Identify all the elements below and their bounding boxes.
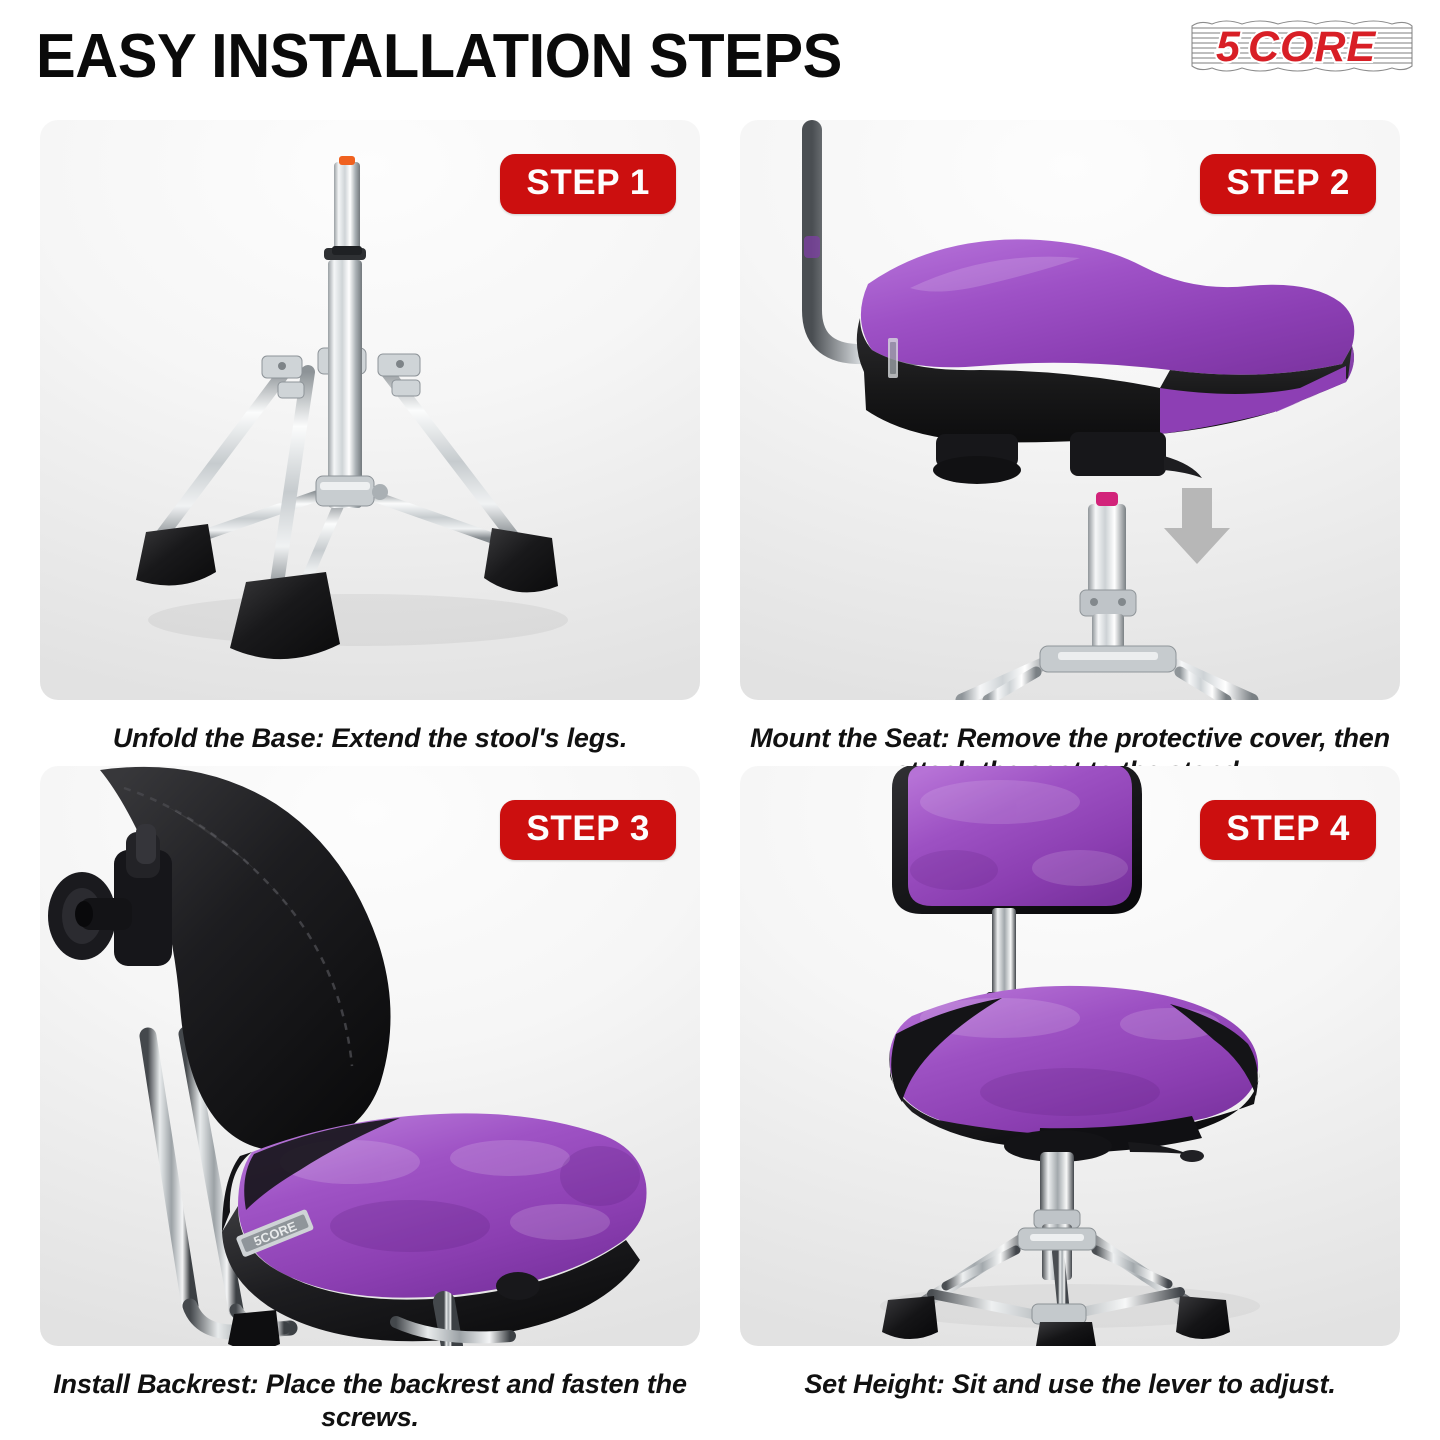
- down-arrow-icon: [1164, 488, 1230, 564]
- step-4-image-panel: STEP 4: [740, 766, 1400, 1346]
- step-2-image-panel: STEP 2: [740, 120, 1400, 700]
- step-2-badge: STEP 2: [1200, 154, 1376, 214]
- step-1-badge: STEP 1: [500, 154, 676, 214]
- step-4-caption: Set Height: Sit and use the lever to adj…: [750, 1368, 1390, 1401]
- page-title: EASY INSTALLATION STEPS: [36, 22, 842, 92]
- step-card-2: STEP 2 Mount the Seat: Remove the protec…: [720, 120, 1420, 788]
- svg-text:5: 5: [1216, 23, 1241, 71]
- step-3-caption: Install Backrest: Place the backrest and…: [50, 1368, 690, 1434]
- step-card-3: 5CORE STEP 3 Install Backrest: Place the…: [20, 766, 720, 1434]
- page-header: EASY INSTALLATION STEPS 5: [0, 0, 1440, 118]
- step-4-badge: STEP 4: [1200, 800, 1376, 860]
- step-1-caption: Unfold the Base: Extend the stool's legs…: [50, 722, 690, 755]
- step-1-image-panel: STEP 1: [40, 120, 700, 700]
- step-card-4: STEP 4 Set Height: Sit and use the lever…: [720, 766, 1420, 1401]
- step-3-badge: STEP 3: [500, 800, 676, 860]
- brand-logo-5-core: 5 CORE: [1186, 16, 1418, 76]
- step-card-1: STEP 1 Unfold the Base: Extend the stool…: [20, 120, 720, 755]
- svg-text:CORE: CORE: [1248, 23, 1377, 71]
- installation-steps-grid: STEP 1 Unfold the Base: Extend the stool…: [0, 118, 1440, 1440]
- height-lever-icon: [1128, 1142, 1204, 1162]
- step-3-image-panel: 5CORE STEP 3: [40, 766, 700, 1346]
